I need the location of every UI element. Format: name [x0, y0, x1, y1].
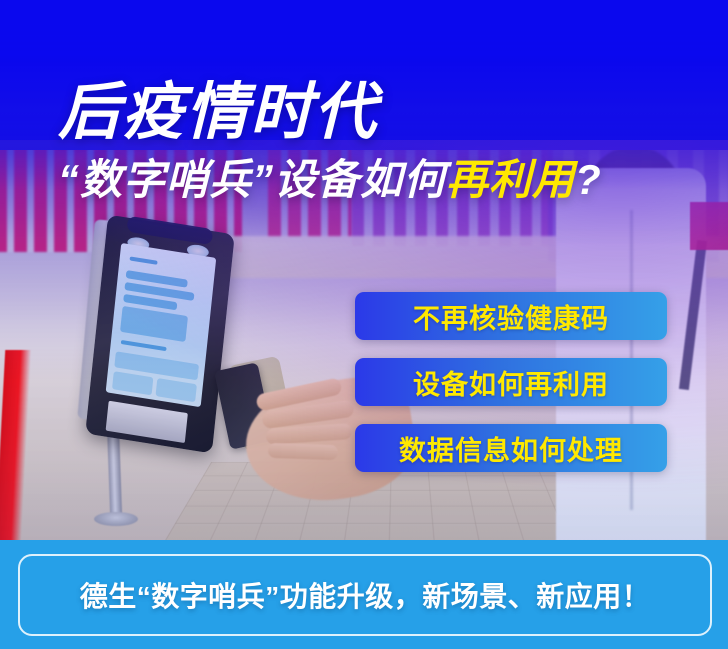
bullet-list: 不再核验健康码 设备如何再利用 数据信息如何处理 — [355, 292, 667, 472]
bullet-pill-3-label: 数据信息如何处理 — [399, 429, 623, 468]
bullet-pill-1[interactable]: 不再核验健康码 — [355, 292, 667, 340]
bullet-pill-2[interactable]: 设备如何再利用 — [355, 358, 667, 406]
bottom-banner: 德生“数字哨兵”功能升级，新场景、新应用！ — [0, 540, 728, 649]
bullet-pill-3[interactable]: 数据信息如何处理 — [355, 424, 667, 472]
headline-line-2: “数字哨兵”设备如何再利用? — [58, 154, 602, 206]
headline-accent-text: 再利用 — [446, 156, 575, 203]
banner-border-frame: 德生“数字哨兵”功能升级，新场景、新应用！ — [18, 554, 712, 636]
headline-line-1: 后疫情时代 — [58, 78, 602, 148]
poster-root: 后疫情时代 “数字哨兵”设备如何再利用? 不再核验健康码 设备如何再利用 数据信… — [0, 0, 728, 649]
kiosk-screen — [106, 243, 217, 407]
banner-text: 德生“数字哨兵”功能升级，新场景、新应用！ — [80, 575, 651, 615]
headline-block: 后疫情时代 “数字哨兵”设备如何再利用? — [58, 78, 602, 206]
bullet-pill-1-label: 不再核验健康码 — [413, 297, 609, 336]
bullet-pill-2-label: 设备如何再利用 — [413, 363, 609, 402]
kiosk-terminal — [85, 215, 235, 454]
kiosk-card-reader — [106, 401, 188, 443]
headline-question-mark: ? — [575, 156, 602, 203]
background-sign — [690, 202, 728, 250]
headline-line-2-prefix: “数字哨兵”设备如何 — [58, 156, 446, 203]
kiosk-base — [94, 512, 138, 526]
